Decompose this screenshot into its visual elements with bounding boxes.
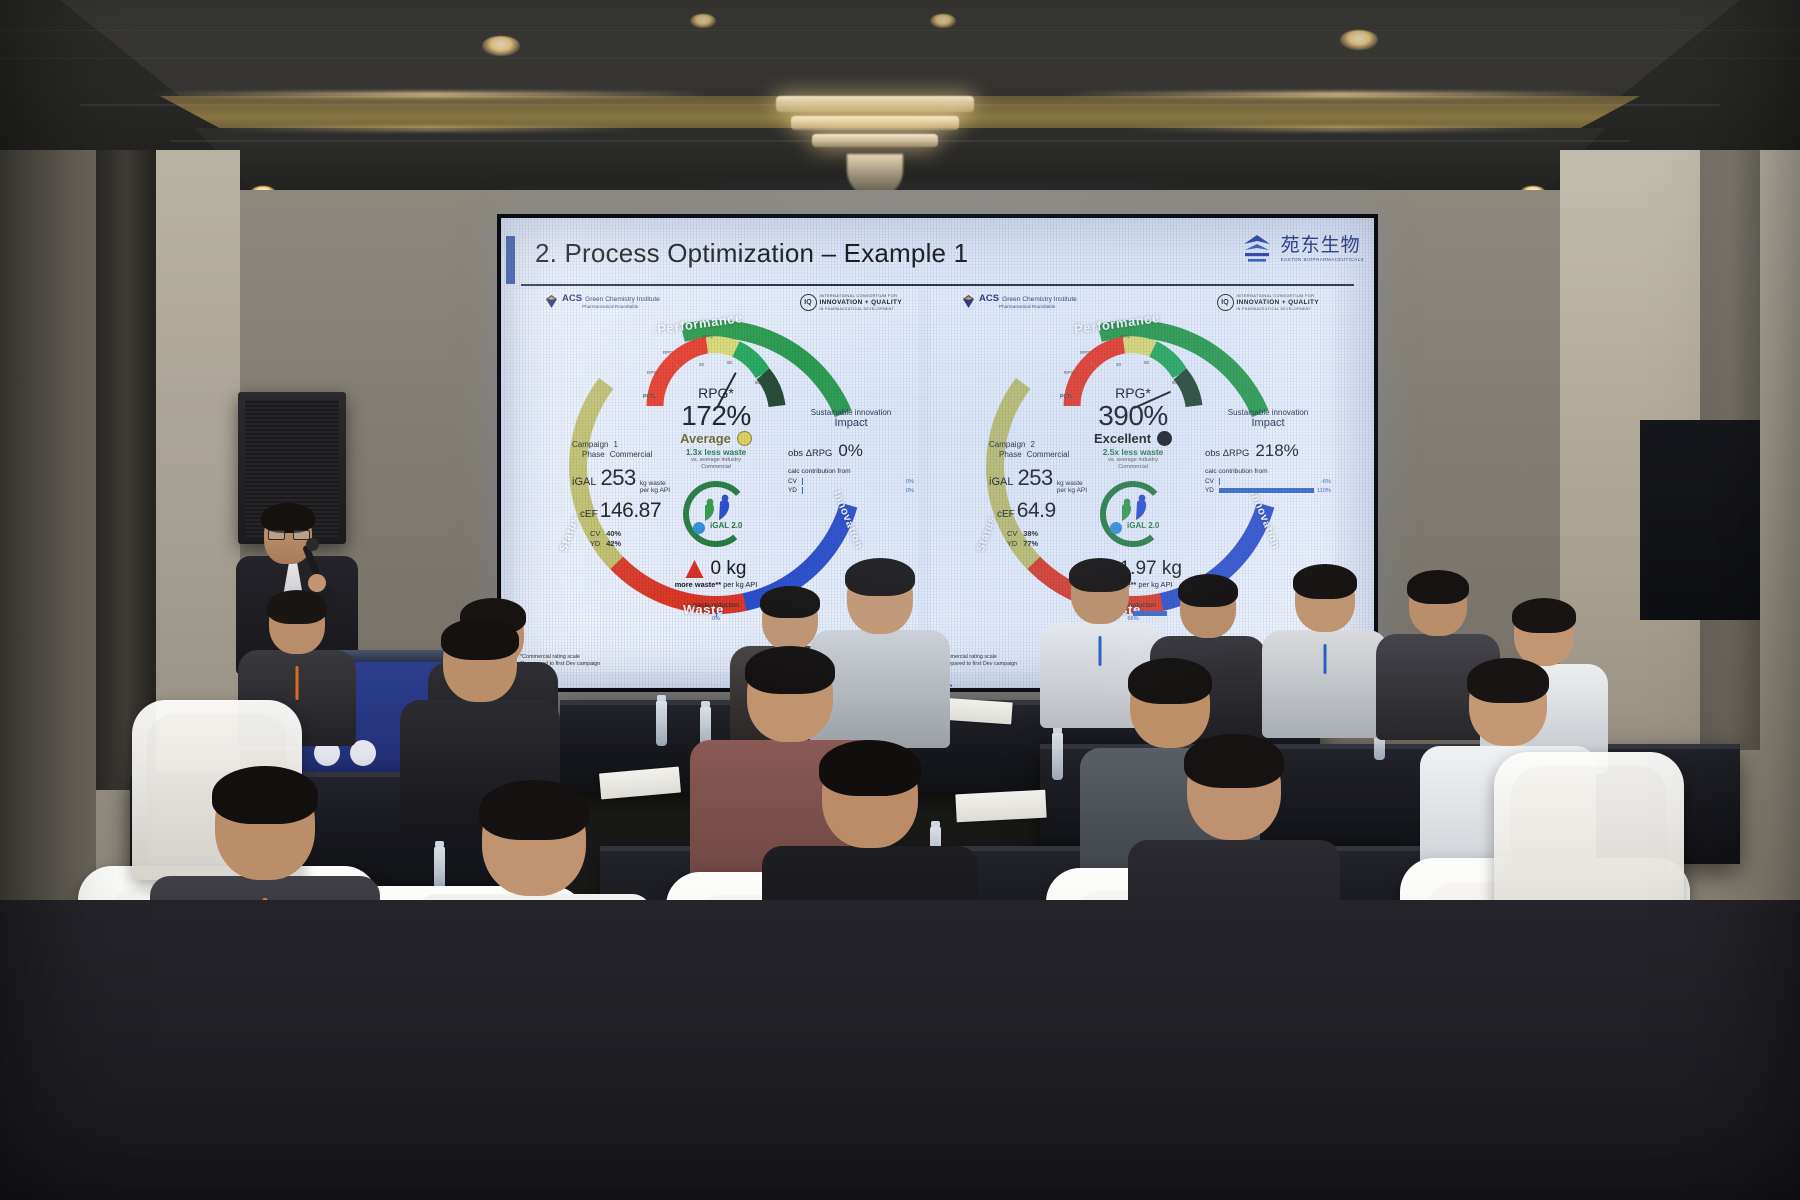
igal-badge-text-1: iGAL 2.0 [710,521,742,530]
campaign-row-1: Campaign 1 [572,440,670,449]
phase-value-1: Commercial [610,450,653,459]
neutral-face-icon-1 [737,431,752,446]
yd-value-2: 77% [1023,539,1038,548]
igal-units-2: kg waste per kg API [1057,480,1087,495]
campaign-label-1: Campaign [572,440,608,449]
igal-row-1: iGAL 253 kg waste per kg API [572,465,670,495]
excellent-dot-icon-2 [1157,431,1172,446]
status-metrics-1: Campaign 1 Phase Commercial iGAL 253 kg … [572,440,670,549]
calc-cv-zero-2 [1219,478,1220,485]
calc-yd-value-2: 110% [1317,488,1331,494]
gauge-rpg-mark-a-1: RPG [647,370,657,375]
delta-value-1: 0 kg [711,558,747,580]
water-bottle-1 [656,700,667,746]
cef-row-1: cEF 146.87 [572,499,670,523]
chandelier [770,92,980,202]
person-hair-15 [479,780,589,840]
campaign-label-2: Campaign [989,440,1025,449]
slide-title: 2. Process Optimization – Example 1 [535,238,968,269]
arrow-up-icon-1 [686,560,704,578]
phase-label-1: Phase [582,450,605,459]
chandelier-tier-1 [776,96,974,112]
rpg-label-2: RPG* [1063,386,1203,401]
person-hair-13 [1467,658,1549,703]
cove-glow-inner-left [220,126,640,131]
delta-sub-bold-1: more waste** [675,580,721,589]
cv-value-2: 38% [1023,529,1038,538]
gauge-rpg-mark-b-2: RPG [1080,350,1090,355]
gauge-tick-60-2: 60 [1144,360,1149,365]
calc-contribution-label-1: calc contribution from [788,468,914,476]
rpg-value-1: 172% [646,401,786,430]
easton-logo-cn: 苑东生物 [1281,236,1364,255]
campaign-value-2: 2 [1030,440,1034,449]
calc-contribution-label-2: calc contribution from [1205,468,1331,476]
yd-row-2: YD 77% [1007,539,1087,548]
title-underline [521,284,1354,286]
obs-drpg-value-2: 218% [1255,441,1298,461]
cove-glow-left [150,92,710,97]
cef-row-2: cEF 64.9 [989,499,1087,523]
person-hair-9 [1512,598,1576,633]
person-hair-14 [212,766,318,824]
ceiling-grid-1 [0,58,1800,59]
gauge-rpg-mark-b-1: RPG [663,350,673,355]
status-metrics-2: Campaign 2 Phase Commercial iGAL 253 kg … [989,440,1087,549]
gauge-tick-80-1: 80 [755,380,760,385]
company-logo: 苑东生物 EASTON BIOPHARMACEUTICALS [1239,232,1364,266]
calc-cv-bar-2 [1219,479,1318,484]
cef-label-2: cEF [997,509,1015,520]
phase-value-2: Commercial [1027,450,1070,459]
person-hair-16 [819,740,921,796]
chandelier-tier-3 [812,134,938,147]
rpg-rating-2: Excellent [1094,431,1151,446]
calc-yd-label-2: YD [1205,487,1216,494]
igal-label-1: iGAL [572,476,596,488]
calc-cv-value-1: 0% [906,479,914,485]
campaign-row-2: Campaign 2 [989,440,1087,449]
cv-yd-block-2: CV 38% YD 77% [989,529,1087,548]
gauge-rpg-mark-c-2: RPG [1120,334,1130,339]
obs-drpg-label-2: obs ΔRPG [1205,447,1249,458]
cv-yd-block-1: CV 40% YD 42% [572,529,670,548]
person-lanyard-7 [1324,644,1327,674]
conference-room-photo: 2. Process Optimization – Example 1 苑东生物… [0,0,1800,1200]
wr-zero-1 [716,610,717,617]
microphone-head [306,538,319,551]
waste-delta-1: 0 kg [686,558,747,580]
person-hair-4 [845,558,915,596]
si-title2-2: Impact [1205,417,1331,429]
acs-line2-2: Green Chemistry Institute [1002,296,1077,303]
cv-row-1: CV 40% [590,529,670,538]
rpg-value-2: 390% [1063,401,1203,430]
phase-row-1: Phase Commercial [572,450,670,459]
acs-line1-2: ACS [979,294,999,304]
calc-cv-label-1: CV [788,478,799,485]
gauge-tick-40-2: 40 [1116,362,1121,367]
chandelier-tier-2 [791,116,959,130]
obs-drpg-label-1: obs ΔRPG [788,447,832,458]
igal-units-1: kg waste per kg API [640,480,670,495]
phase-label-2: Phase [999,450,1022,459]
person-hair-12 [1128,658,1212,704]
sustainable-innovation-1: Sustainable innovation Impact obs ΔRPG 0… [788,408,914,494]
calc-yd-zero-1 [802,487,803,494]
calc-cv-zero-1 [802,478,803,485]
igal-value-2: 253 [1017,465,1052,491]
obs-drpg-value-1: 0% [838,441,863,461]
downlight-5 [690,14,716,28]
yd-label-2: YD [1007,539,1017,548]
person-lanyard-1 [296,666,299,700]
igal-unit2-1: per kg API [640,487,670,494]
yd-value-1: 42% [606,539,621,548]
campaign-value-1: 1 [613,440,617,449]
gauge-tick-60-1: 60 [727,360,732,365]
title-accent-bar [506,236,515,284]
floor [0,900,1800,1200]
downlight-6 [930,14,956,28]
igal-label-2: iGAL [989,476,1013,488]
ceiling-grid-2 [0,30,1800,31]
water-bottle-3 [1052,732,1063,780]
igal-unit1-1: kg waste [640,480,670,487]
acs-line2-1: Green Chemistry Institute [585,296,660,303]
si-title1-1: Sustainable innovation [788,408,914,417]
cv-label-1: CV [590,529,600,538]
easton-logo-text: 苑东生物 EASTON BIOPHARMACEUTICALS [1281,236,1364,262]
cove-glow-inner-right [1130,126,1550,131]
obs-drpg-row-1: obs ΔRPG 0% [788,441,914,461]
presenter-glasses [268,530,308,538]
person-hair-8 [1407,570,1469,604]
gauge-tick-80-2: 80 [1172,380,1177,385]
igal-2-badge-1: iGAL 2.0 [680,478,752,550]
cef-value-2: 64.9 [1017,499,1056,523]
left-wall-dark-panel [0,150,96,930]
presenter-hair [261,503,315,533]
person-hair-10 [441,618,519,660]
person-hair-5 [1069,558,1131,592]
cv-value-1: 40% [606,529,621,538]
person-hair-6 [1178,574,1238,607]
cv-label-2: CV [1007,529,1017,538]
cef-value-1: 146.87 [600,499,661,523]
igal-value-1: 253 [600,465,635,491]
sustainable-innovation-2: Sustainable innovation Impact obs ΔRPG 2… [1205,408,1331,494]
person-hair-17 [1184,734,1284,788]
cef-label-1: cEF [580,509,598,520]
si-title1-2: Sustainable innovation [1205,408,1331,417]
calc-cv-row-2: CV -6% [1205,478,1331,485]
presenter-hand [308,574,326,592]
rpg-label-1: RPG* [646,386,786,401]
igal-row-2: iGAL 253 kg waste per kg API [989,465,1087,495]
downlight-1 [482,36,520,56]
audience-member-7 [1262,566,1388,730]
person-hair-1 [267,590,327,624]
gauge-rpg-mark-c-1: RPG [703,334,713,339]
igal-unit2-2: per kg API [1057,487,1087,494]
cv-row-2: CV 38% [1007,529,1087,538]
easton-logo-mark [1239,232,1275,266]
si-title2-1: Impact [788,417,914,429]
right-monitor [1640,420,1760,620]
calc-cv-label-2: CV [1205,478,1216,485]
cove-glow-right [1060,92,1620,97]
downlight-2 [1340,30,1378,50]
acs-line1-1: ACS [562,294,582,304]
person-hair-11 [745,646,835,694]
gauge-tick-40-1: 40 [699,362,704,367]
igal-unit1-2: kg waste [1057,480,1087,487]
rpg-rating-1: Average [680,431,731,446]
calc-yd-label-1: YD [788,487,799,494]
easton-logo-en: EASTON BIOPHARMACEUTICALS [1281,257,1364,262]
calc-cv-row-1: CV 0% [788,478,914,485]
calc-yd-row-1: YD 0% [788,487,914,494]
bottle-cap-1 [657,695,666,701]
pillar-left [96,150,156,790]
person-hair-7 [1293,564,1357,599]
glasses-lens-left [268,530,285,540]
gauge-rpg-mark-a-2: RPG [1064,370,1074,375]
obs-drpg-row-2: obs ΔRPG 218% [1205,441,1331,461]
calc-yd-row-2: YD 110% [1205,487,1331,494]
phase-row-2: Phase Commercial [989,450,1087,459]
calc-yd-fill-2 [1219,488,1314,493]
calc-cv-bar-1 [802,479,903,484]
yd-label-1: YD [590,539,600,548]
igal-badge-text-2: iGAL 2.0 [1127,521,1159,530]
yd-row-1: YD 42% [590,539,670,548]
igal-2-badge-2: iGAL 2.0 [1097,478,1169,550]
calc-yd-bar-2 [1219,488,1314,493]
calc-yd-bar-1 [802,488,903,493]
calc-cv-value-2: -6% [1321,479,1331,485]
calc-yd-value-1: 0% [906,488,914,494]
